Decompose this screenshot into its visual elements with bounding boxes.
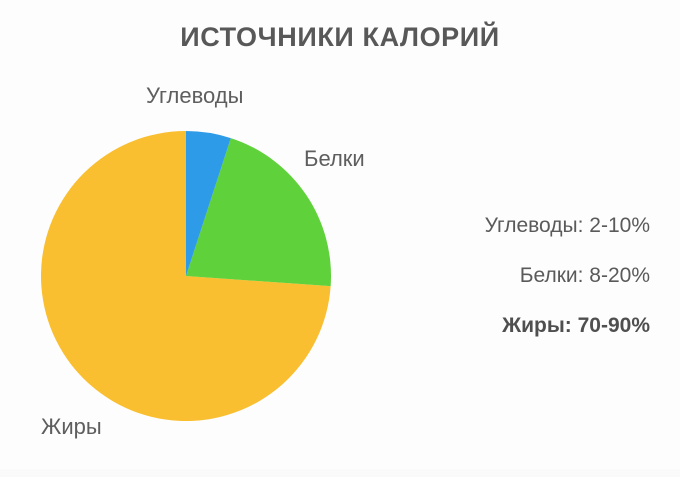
legend-item-carbs: Углеводы: 2-10% [320, 214, 650, 238]
legend-item-fat: Жиры: 70-90% [320, 314, 650, 338]
page-title: ИСТОЧНИКИ КАЛОРИЙ [0, 22, 680, 53]
pie-chart-svg [41, 131, 331, 421]
pie-label-fat: Жиры [41, 414, 102, 440]
chart-canvas: ИСТОЧНИКИ КАЛОРИЙ Углеводы Белки Жиры Уг… [0, 0, 680, 477]
pie-label-protein: Белки [304, 146, 365, 172]
legend: Углеводы: 2-10% Белки: 8-20% Жиры: 70-90… [320, 214, 650, 338]
pie-chart [41, 131, 331, 421]
bottom-edge-band [0, 469, 680, 477]
legend-item-protein: Белки: 8-20% [320, 264, 650, 288]
pie-label-carbs: Углеводы [146, 83, 243, 109]
